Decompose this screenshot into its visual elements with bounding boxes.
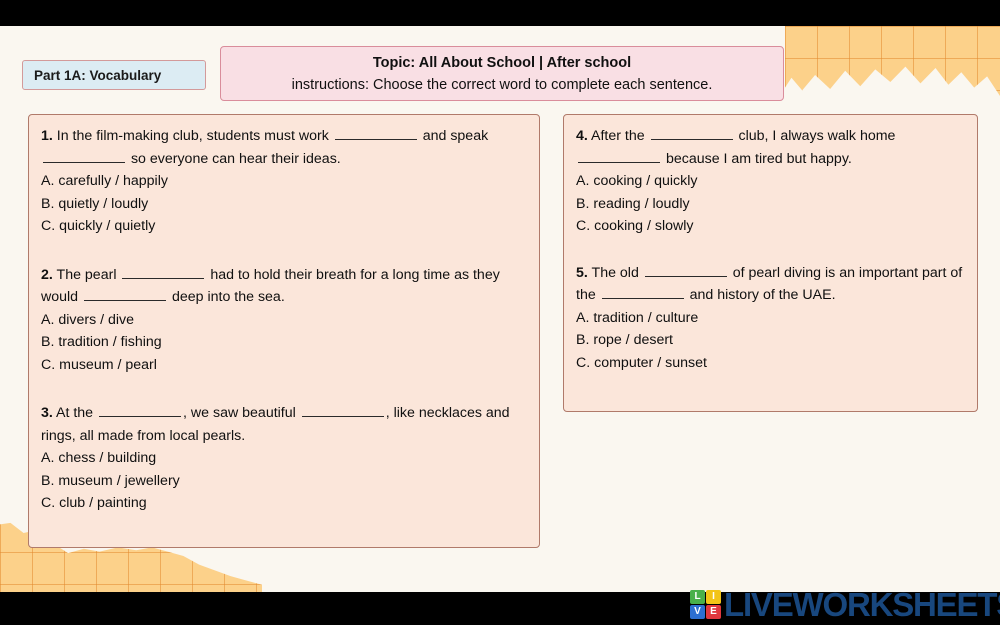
question-stem: 3. At the , we saw beautiful , like neck… [41,402,525,447]
question-number: 1. [41,128,53,144]
part-badge: Part 1A: Vocabulary [22,60,206,90]
question-item: 5. The old of pearl diving is an importa… [576,262,963,375]
question-number: 2. [41,267,53,283]
answer-blank[interactable] [578,148,660,163]
logo-square-l: L [690,590,705,604]
logo-square-i: I [706,590,721,604]
question-number: 3. [41,405,53,421]
logo-squares-icon: L I V E [690,590,721,619]
answer-blank[interactable] [43,148,125,163]
option-c[interactable]: C. computer / sunset [576,352,963,375]
questions-panel-left: 1. In the film-making club, students mus… [28,114,540,548]
stem-part-a: The old [588,265,643,281]
option-c[interactable]: C. museum / pearl [41,354,525,377]
logo-square-v: V [690,605,705,619]
option-a[interactable]: A. divers / dive [41,309,525,332]
stem-part-c: deep into the sea. [168,289,285,305]
option-a[interactable]: A. chess / building [41,447,525,470]
option-b[interactable]: B. museum / jewellery [41,470,525,493]
question-item: 4. After the club, I always walk home be… [576,125,963,238]
option-c[interactable]: C. club / painting [41,492,525,515]
part-badge-label: Part 1A: Vocabulary [34,68,161,83]
question-item: 2. The pearl had to hold their breath fo… [41,264,525,377]
question-stem: 4. After the club, I always walk home be… [576,125,963,170]
answer-blank[interactable] [122,264,204,279]
stem-part-b: club, I always walk home [735,128,896,144]
stem-part-a: At the [53,405,97,421]
stem-part-b: , we saw beautiful [183,405,300,421]
stem-part-b: and speak [419,128,488,144]
stem-part-a: The pearl [53,267,121,283]
answer-blank[interactable] [645,262,727,277]
topic-title: Topic: All About School | After school [221,52,783,74]
question-stem: 1. In the film-making club, students mus… [41,125,525,170]
answer-blank[interactable] [302,402,384,417]
logo-square-e: E [706,605,721,619]
stem-part-c: because I am tired but happy. [662,151,852,167]
option-b[interactable]: B. quietly / loudly [41,193,525,216]
answer-blank[interactable] [99,402,181,417]
option-a[interactable]: A. cooking / quickly [576,170,963,193]
answer-blank[interactable] [651,125,733,140]
top-black-bar [0,0,1000,26]
stem-part-c: and history of the UAE. [686,287,836,303]
question-number: 4. [576,128,588,144]
questions-panel-right: 4. After the club, I always walk home be… [563,114,978,412]
stem-part-a: In the film-making club, students must w… [53,128,333,144]
answer-blank[interactable] [84,286,166,301]
answer-blank[interactable] [602,284,684,299]
liveworksheets-logo[interactable]: L I V E LIVEWORKSHEETS [690,586,1000,622]
stem-part-a: After the [588,128,649,144]
question-stem: 2. The pearl had to hold their breath fo… [41,264,525,309]
option-a[interactable]: A. tradition / culture [576,307,963,330]
option-a[interactable]: A. carefully / happily [41,170,525,193]
question-number: 5. [576,265,588,281]
question-item: 3. At the , we saw beautiful , like neck… [41,402,525,515]
option-c[interactable]: C. cooking / slowly [576,215,963,238]
topic-box: Topic: All About School | After school i… [220,46,784,101]
logo-wordmark: LIVEWORKSHEETS [724,588,1000,621]
question-item: 1. In the film-making club, students mus… [41,125,525,238]
option-b[interactable]: B. reading / loudly [576,193,963,216]
option-c[interactable]: C. quickly / quietly [41,215,525,238]
option-b[interactable]: B. tradition / fishing [41,331,525,354]
option-b[interactable]: B. rope / desert [576,329,963,352]
answer-blank[interactable] [335,125,417,140]
stem-part-c: so everyone can hear their ideas. [127,151,341,167]
instructions-text: instructions: Choose the correct word to… [221,74,783,96]
decorative-grid-paper-top-right [785,26,1000,96]
question-stem: 5. The old of pearl diving is an importa… [576,262,963,307]
